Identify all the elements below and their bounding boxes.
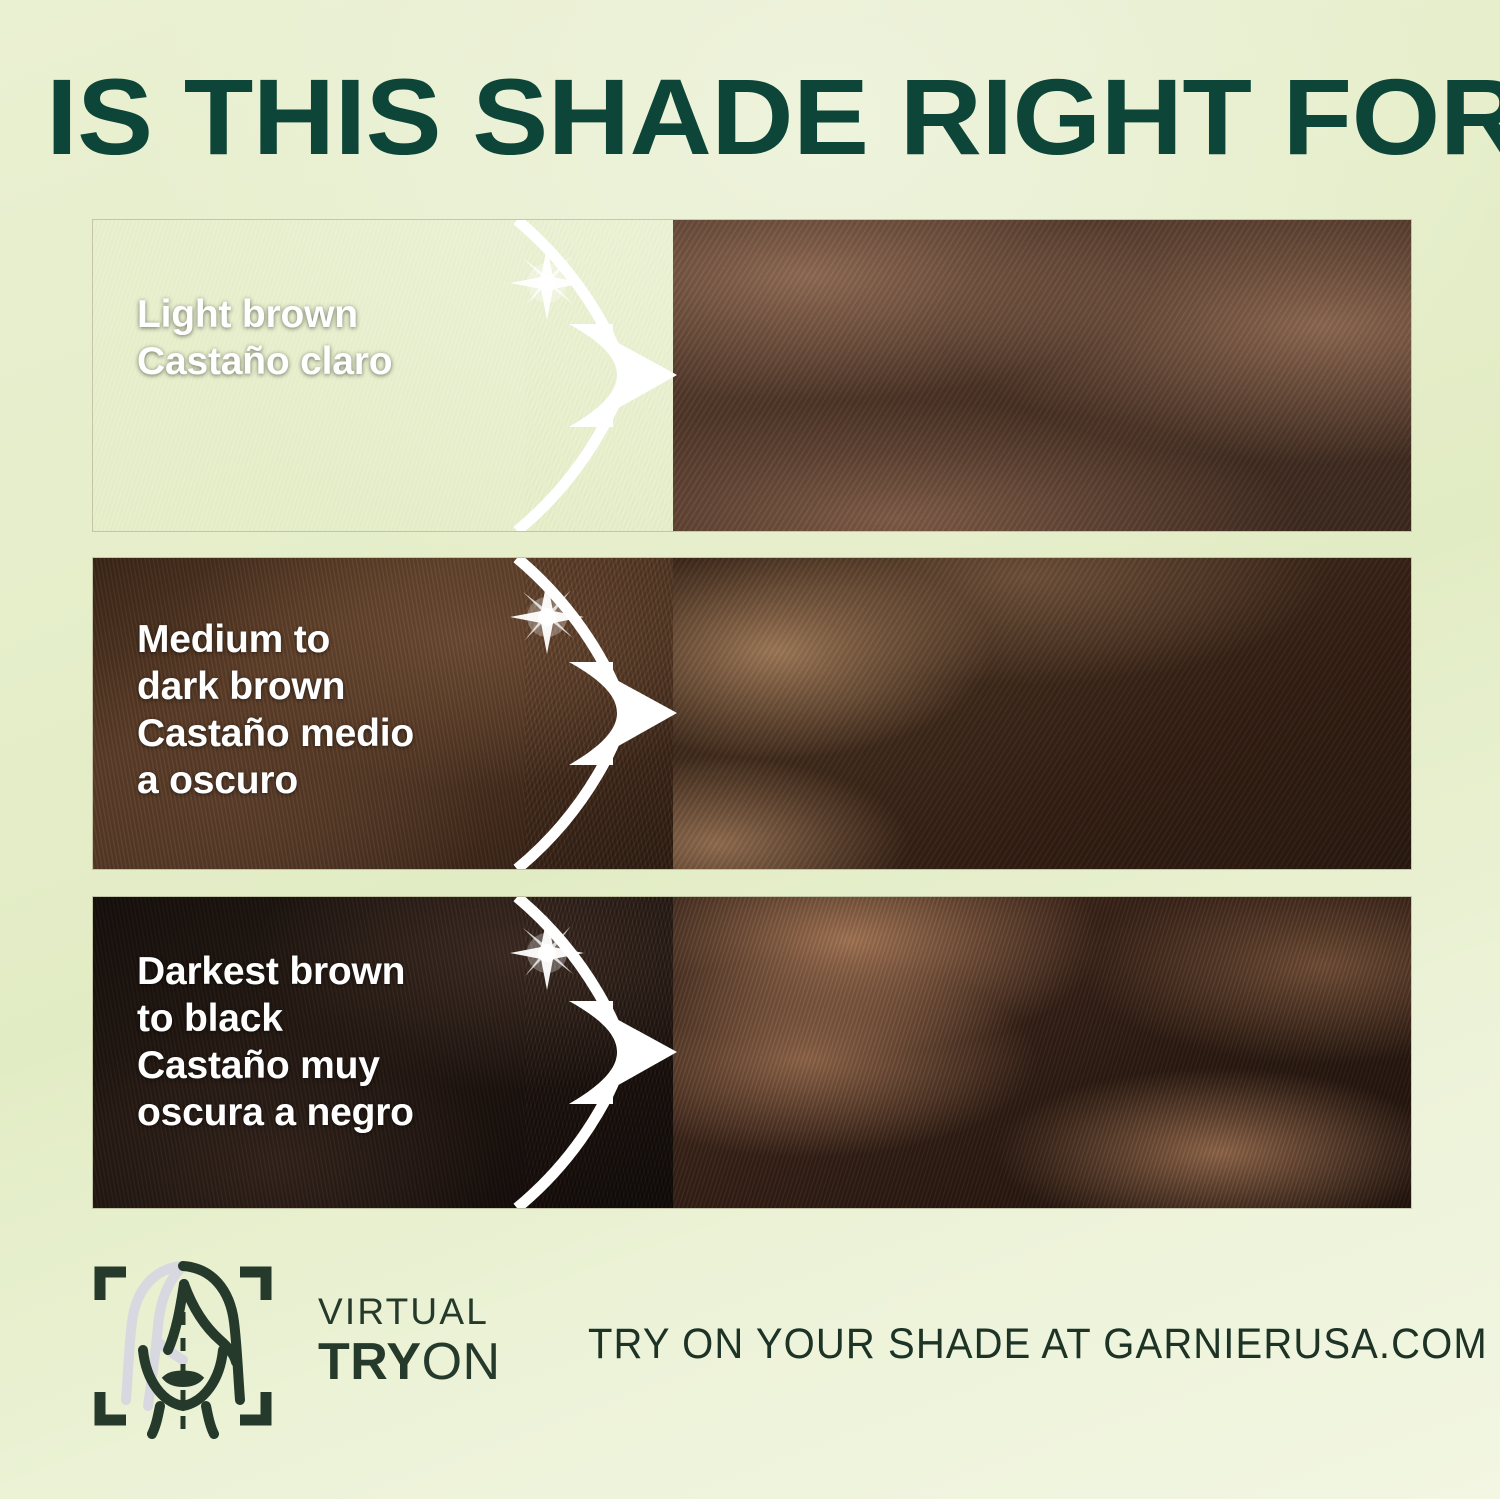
shade-row-darkest-brown-to-black: Darkest brown to black Castaño muy oscur… xyxy=(93,897,1411,1208)
shade-label-line: Castaño claro xyxy=(137,338,392,385)
page-title: IS THIS SHADE RIGHT FOR YOU? xyxy=(46,62,1500,172)
shade-label-line: a oscuro xyxy=(137,757,414,804)
shade-label: Light brown Castaño claro xyxy=(137,291,392,385)
shade-label-line: Darkest brown xyxy=(137,948,414,995)
shade-row-light-brown: Light brown Castaño claro xyxy=(93,220,1411,531)
shade-row-medium-to-dark-brown: Medium to dark brown Castaño medio a osc… xyxy=(93,558,1411,869)
hair-strand-texture xyxy=(525,220,1411,531)
wordmark-on: ON xyxy=(422,1333,501,1391)
shade-label-line: Light brown xyxy=(137,291,392,338)
promo-image: IS THIS SHADE RIGHT FOR YOU? Light brown… xyxy=(0,0,1500,1499)
shade-label-line: to black xyxy=(137,995,414,1042)
shade-label: Medium to dark brown Castaño medio a osc… xyxy=(137,616,414,804)
hair-strand-texture xyxy=(525,558,1411,869)
face-scan-icon xyxy=(88,1250,318,1440)
tagline: TRY ON YOUR SHADE AT GARNIERUSA.COM xyxy=(588,1320,1488,1368)
virtual-tryon-wordmark: VIRTUAL TRYON xyxy=(318,1292,568,1390)
wordmark-virtual: VIRTUAL xyxy=(318,1292,568,1332)
hair-strand-texture xyxy=(525,897,1411,1208)
shade-label-line: dark brown xyxy=(137,663,414,710)
shade-label-line: Medium to xyxy=(137,616,414,663)
footer: VIRTUAL TRYON TRY ON YOUR SHADE AT GARNI… xyxy=(0,1244,1500,1444)
shade-label-line: oscura a negro xyxy=(137,1089,414,1136)
wordmark-try: TRY xyxy=(318,1333,422,1391)
shade-label-line: Castaño muy xyxy=(137,1042,414,1089)
hair-swatch-after xyxy=(673,558,1411,869)
shade-label-line: Castaño medio xyxy=(137,710,414,757)
shade-label: Darkest brown to black Castaño muy oscur… xyxy=(137,948,414,1136)
hair-swatch-after xyxy=(673,897,1411,1208)
hair-swatch-after xyxy=(673,220,1411,531)
wordmark-tryon: TRYON xyxy=(318,1334,568,1390)
